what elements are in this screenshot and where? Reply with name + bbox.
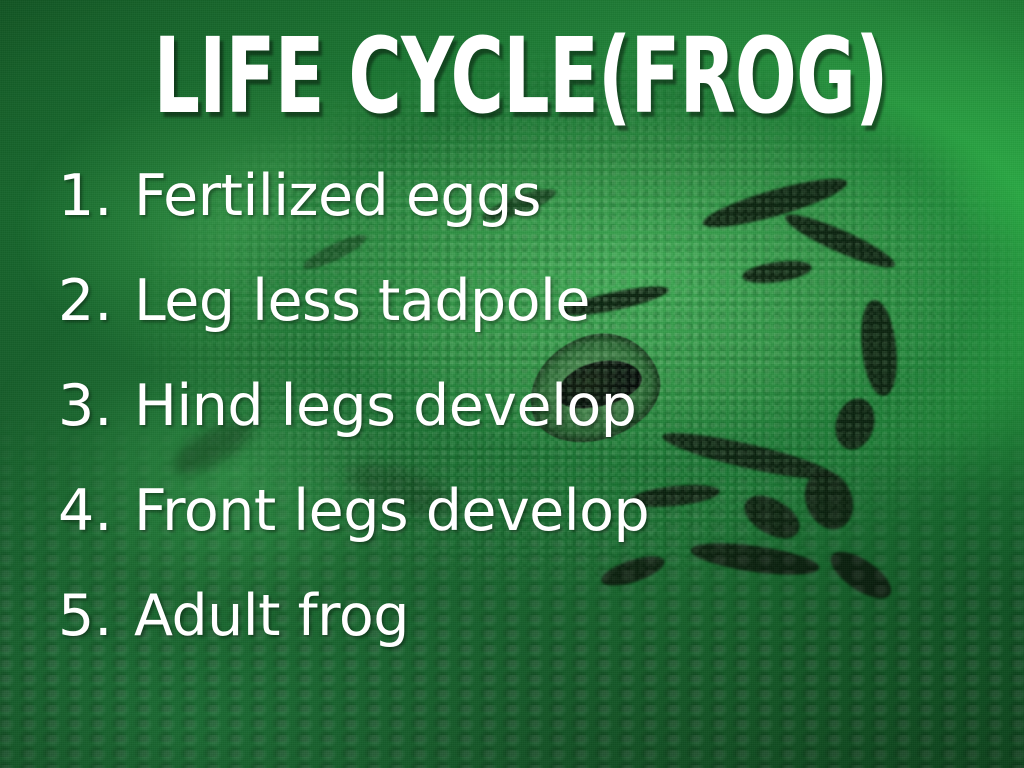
list-item-label: Fertilized eggs: [134, 168, 541, 225]
list-item: 1. Fertilized eggs: [58, 168, 649, 273]
list-item: 4. Front legs develop: [58, 483, 649, 588]
slide-content: LIFE CYCLE(FROG) 1. Fertilized eggs 2. L…: [0, 0, 1024, 768]
list-item-label: Front legs develop: [134, 483, 649, 540]
life-cycle-list: 1. Fertilized eggs 2. Leg less tadpole 3…: [58, 168, 649, 693]
list-item: 5. Adult frog: [58, 588, 649, 693]
list-item-number: 5.: [58, 588, 134, 645]
list-item-number: 4.: [58, 483, 134, 540]
list-item-label: Adult frog: [134, 588, 409, 645]
list-item-number: 2.: [58, 273, 134, 330]
presentation-slide: LIFE CYCLE(FROG) 1. Fertilized eggs 2. L…: [0, 0, 1024, 768]
list-item: 3. Hind legs develop: [58, 378, 649, 483]
list-item-label: Hind legs develop: [134, 378, 636, 435]
list-item-label: Leg less tadpole: [134, 273, 590, 330]
slide-title: LIFE CYCLE(FROG): [154, 22, 871, 130]
list-item-number: 3.: [58, 378, 134, 435]
list-item: 2. Leg less tadpole: [58, 273, 649, 378]
list-item-number: 1.: [58, 168, 134, 225]
